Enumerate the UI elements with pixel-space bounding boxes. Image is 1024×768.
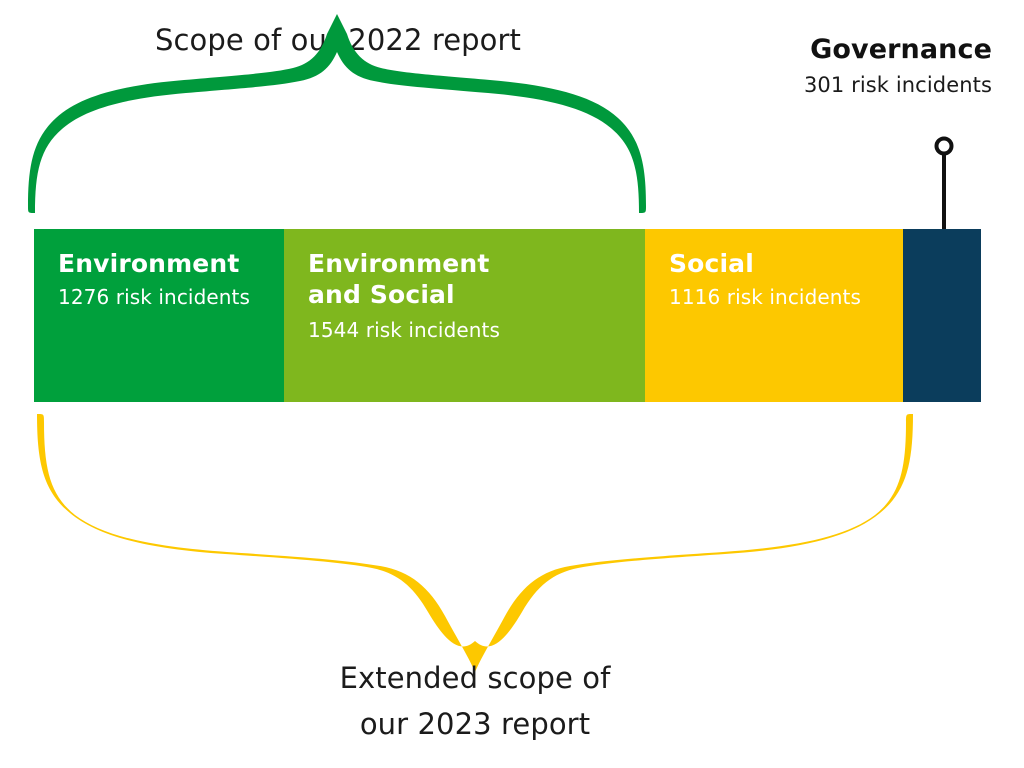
bar-segment-environment-and-social-value: 1544 risk incidents [308,316,645,344]
governance-title: Governance [742,33,992,67]
bar-segment-environment[interactable]: Environment 1276 risk incidents [34,229,284,402]
bar-segment-environment-and-social[interactable]: Environment and Social 1544 risk inciden… [284,229,645,402]
stacked-bar: Environment 1276 risk incidents Environm… [34,229,981,402]
bar-segment-social-value: 1116 risk incidents [669,283,903,311]
bar-segment-environment-value: 1276 risk incidents [58,283,284,311]
esg-scope-infographic: Scope of our 2022 report Governance 301 … [0,0,1024,768]
scope-2023-caption: Extended scope of our 2023 report [175,655,775,747]
governance-callout: Governance 301 risk incidents [742,33,992,100]
bar-segment-environment-and-social-label: Environment and Social [308,248,645,310]
bar-segment-environment-label: Environment [58,248,284,279]
scope-2022-caption: Scope of our 2022 report [33,21,643,59]
bar-segment-governance[interactable] [903,229,981,402]
bar-segment-social-label: Social [669,248,903,279]
scope-2023-brace-icon [37,414,913,672]
bar-segment-social[interactable]: Social 1116 risk incidents [645,229,903,402]
governance-subtitle: 301 risk incidents [742,70,992,100]
